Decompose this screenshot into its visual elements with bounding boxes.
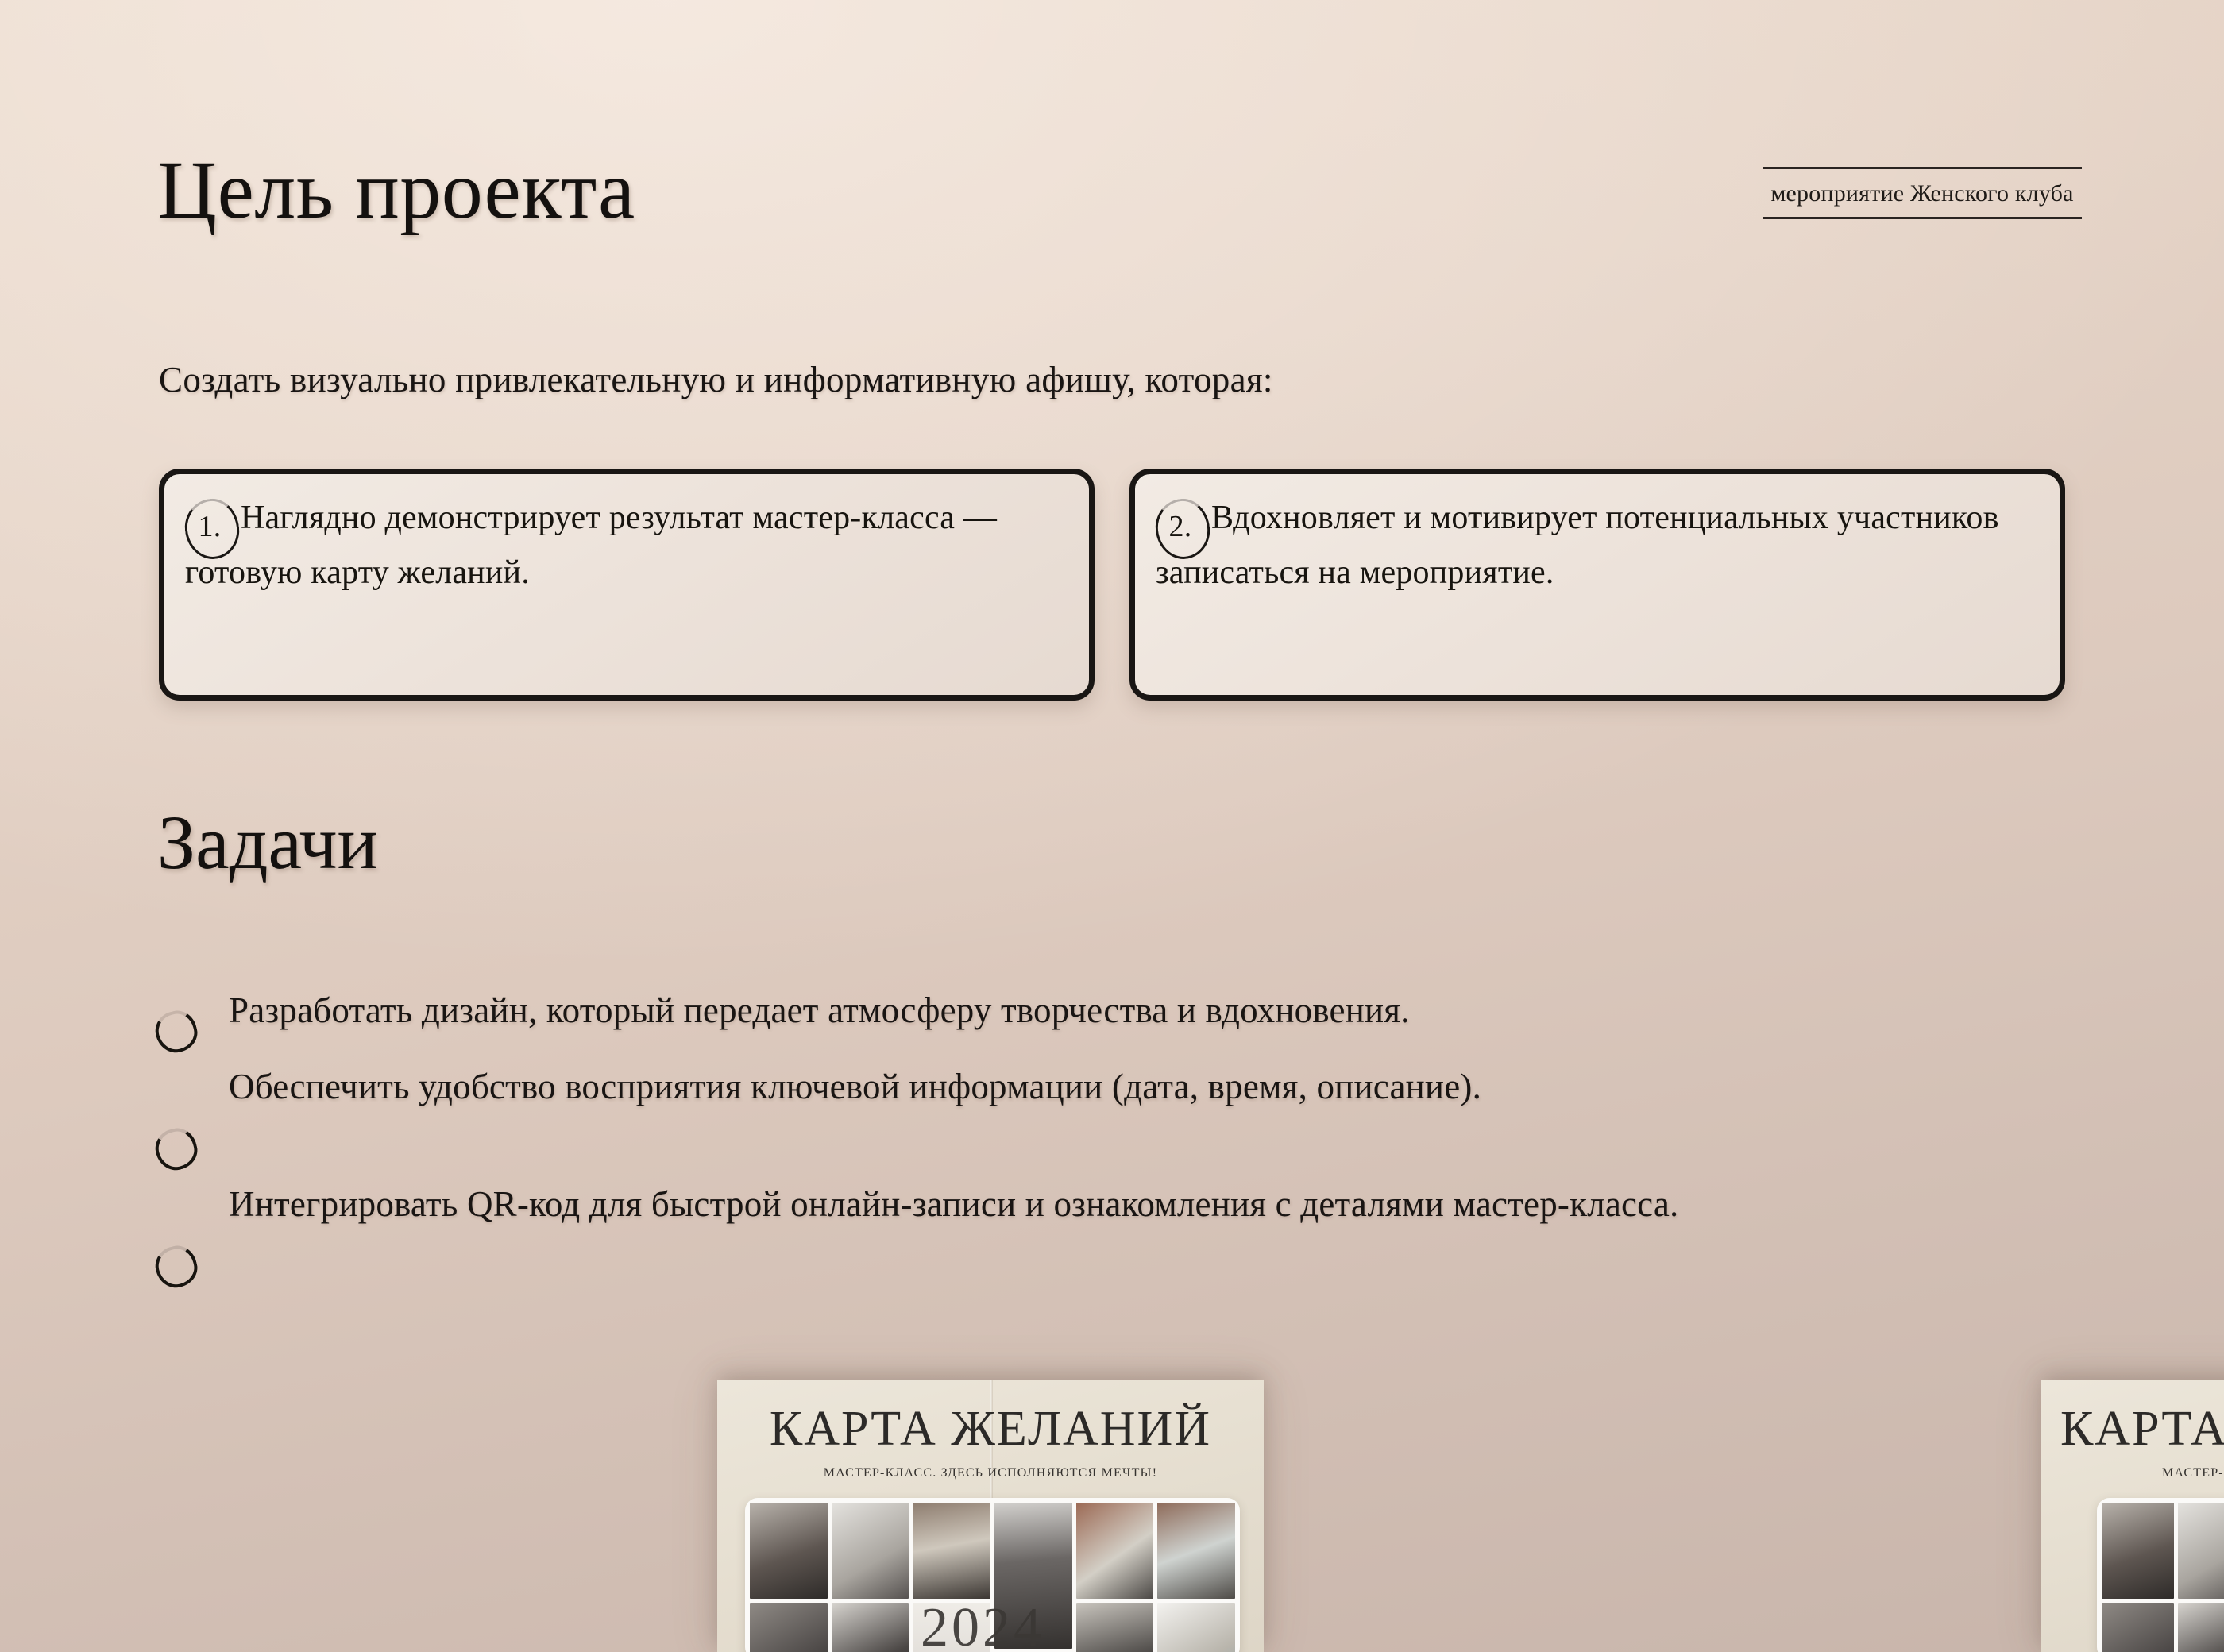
poster-title: КАРТА — [2060, 1401, 2224, 1457]
poster-preview-right: КАРТА МАСТЕР-КЛАСС — [2041, 1380, 2224, 1652]
poster-subtitle: МАСТЕР-КЛАСС. ЗДЕСЬ ИСПОЛНЯЮТСЯ МЕЧТЫ! — [717, 1466, 1264, 1480]
task-list: Разработать дизайн, который передает атм… — [156, 987, 2118, 1299]
task-text: Разработать дизайн, который передает атм… — [229, 987, 2118, 1035]
open-circle-bullet-icon — [156, 1246, 197, 1287]
list-item: Интегрировать QR-код для быстрой онлайн-… — [156, 1181, 2118, 1287]
goal-card-1-body: 1. Наглядно демонстрирует результат маст… — [185, 496, 1068, 595]
collage-photo — [832, 1503, 909, 1599]
tasks-heading: Задачи — [157, 805, 378, 881]
open-circle-bullet-icon — [156, 1011, 197, 1052]
poster-year: 2024 — [921, 1596, 1044, 1652]
collage-photo — [2102, 1503, 2174, 1599]
poster-collage: 2024 — [745, 1498, 1240, 1652]
poster-preview-main: КАРТА ЖЕЛАНИЙ МАСТЕР-КЛАСС. ЗДЕСЬ ИСПОЛН… — [717, 1380, 1264, 1652]
club-badge-label: мероприятие Женского клуба — [1763, 180, 2082, 207]
collage-photo — [1157, 1503, 1235, 1599]
goal-card-2-body: 2. Вдохновляет и мотивирует потенциальны… — [1156, 496, 2039, 595]
collage-grid — [2102, 1503, 2224, 1652]
goal-card-1-text: Наглядно демонстрирует результат мастер-… — [185, 500, 997, 591]
collage-grid: 2024 — [750, 1503, 1235, 1652]
collage-photo — [750, 1603, 828, 1652]
collage-photo — [1157, 1603, 1235, 1652]
goal-number-2: 2. — [1156, 502, 1205, 551]
collage-photo — [750, 1503, 828, 1599]
goal-card-1: 1. Наглядно демонстрирует результат маст… — [159, 469, 1095, 701]
goal-card-2: 2. Вдохновляет и мотивирует потенциальны… — [1129, 469, 2065, 701]
task-text: Интегрировать QR-код для быстрой онлайн-… — [229, 1181, 2118, 1229]
club-badge: мероприятие Женского клуба — [1763, 167, 2082, 219]
list-item: Обеспечить удобство восприятия ключевой … — [156, 1063, 2118, 1170]
collage-photo — [913, 1503, 990, 1599]
collage-photo — [2102, 1603, 2174, 1652]
poster-title: КАРТА ЖЕЛАНИЙ — [717, 1401, 1264, 1457]
collage-photo — [832, 1603, 909, 1652]
collage-photo — [1076, 1603, 1154, 1652]
slide-canvas: Цель проекта мероприятие Женского клуба … — [0, 0, 2224, 1652]
goal-card-2-text: Вдохновляет и мотивирует потенциальных у… — [1156, 500, 1999, 591]
collage-photo — [2178, 1503, 2224, 1599]
collage-photo — [2178, 1603, 2224, 1652]
open-circle-bullet-icon — [156, 1129, 197, 1170]
poster-collage — [2097, 1498, 2224, 1652]
page-title: Цель проекта — [157, 149, 635, 232]
goal-number-1: 1. — [185, 502, 234, 551]
task-text: Обеспечить удобство восприятия ключевой … — [229, 1063, 2118, 1111]
list-item: Разработать дизайн, который передает атм… — [156, 987, 2118, 1052]
intro-text: Создать визуально привлекательную и инфо… — [159, 359, 1273, 400]
collage-photo — [1076, 1503, 1154, 1599]
poster-subtitle: МАСТЕР-КЛАСС — [2162, 1466, 2224, 1480]
